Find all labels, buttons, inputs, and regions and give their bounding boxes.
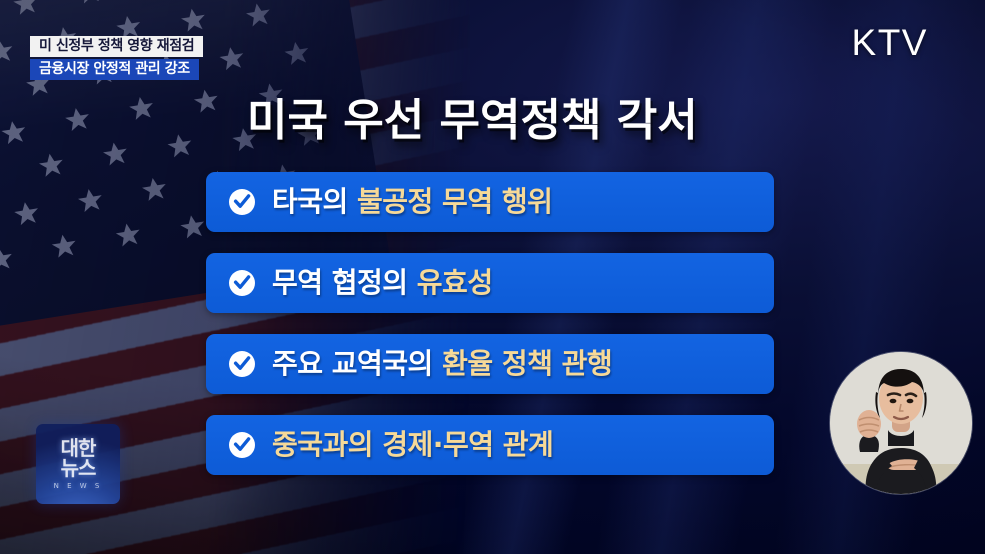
- interpreter-figure: [830, 352, 972, 494]
- check-circle-icon: [228, 269, 256, 297]
- watermark-line-1: 대한: [61, 438, 96, 458]
- list-item: 중국과의 경제·무역 관계: [206, 415, 774, 475]
- list-item-label: 타국의 불공정 무역 행위: [272, 188, 552, 216]
- list-item-label: 주요 교역국의 환율 정책 관행: [272, 350, 612, 378]
- list-item-label: 무역 협정의 유효성: [272, 269, 493, 297]
- list-item-segment: 주요 교역국의: [272, 347, 442, 380]
- check-circle-icon: [228, 431, 256, 459]
- list-item-segment-highlight: 유효성: [417, 266, 493, 299]
- list-item-label: 중국과의 경제·무역 관계: [272, 431, 553, 459]
- sign-language-interpreter-inset: [830, 352, 972, 494]
- list-item: 무역 협정의 유효성: [206, 253, 774, 313]
- check-circle-icon: [228, 350, 256, 378]
- list-item-segment: 무역 협정의: [272, 266, 417, 299]
- banner-line-primary: 미 신정부 정책 영향 재점검: [30, 36, 203, 57]
- page-title: 미국 우선 무역정책 각서: [247, 84, 698, 148]
- list-item-segment-highlight: 불공정 무역 행위: [357, 185, 552, 218]
- ktv-channel-logo: KTV: [852, 22, 928, 64]
- daehan-news-watermark-logo: 대한 뉴스 N E W S: [36, 424, 120, 504]
- list-item: 주요 교역국의 환율 정책 관행: [206, 334, 774, 394]
- topic-banner: 미 신정부 정책 영향 재점검 금융시장 안정적 관리 강조: [30, 36, 203, 80]
- broadcast-screen: 미 신정부 정책 영향 재점검 금융시장 안정적 관리 강조 KTV 미국 우선…: [0, 0, 985, 554]
- list-item: 타국의 불공정 무역 행위: [206, 172, 774, 232]
- check-circle-icon: [228, 188, 256, 216]
- bullet-list: 타국의 불공정 무역 행위 무역 협정의 유효성 주요 교역국의 환율 정책 관…: [206, 172, 774, 475]
- banner-line-secondary: 금융시장 안정적 관리 강조: [30, 59, 199, 80]
- list-item-segment-highlight: 중국과의 경제·무역 관계: [272, 428, 553, 461]
- watermark-line-2: 뉴스: [61, 458, 96, 479]
- watermark-subtitle: N E W S: [54, 482, 103, 490]
- list-item-segment-highlight: 환율 정책 관행: [442, 347, 612, 380]
- list-item-segment: 타국의: [272, 185, 357, 218]
